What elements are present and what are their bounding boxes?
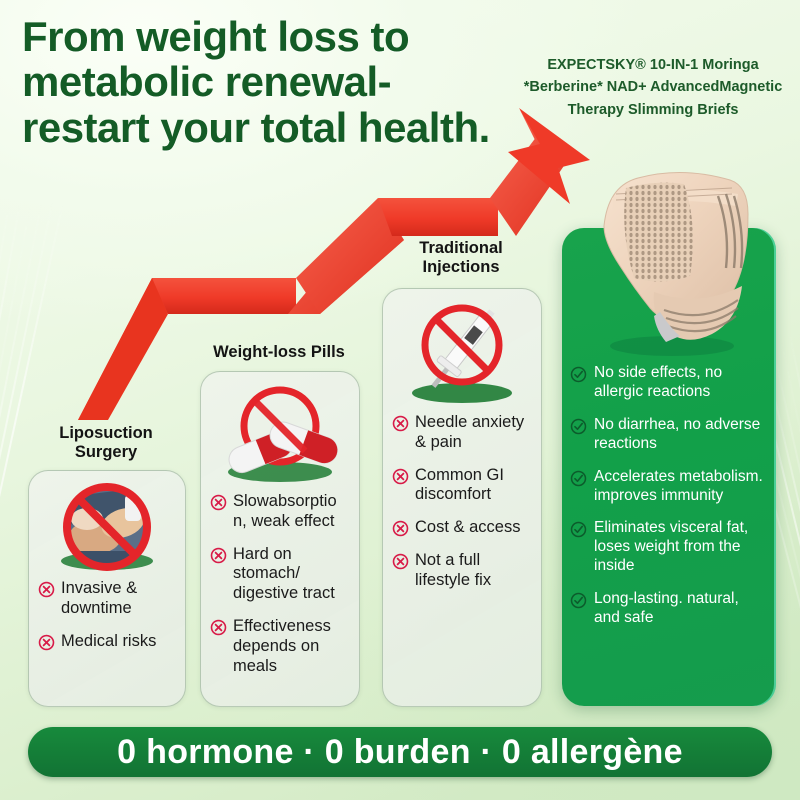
x-mark-icon [392, 520, 409, 537]
check-circle-icon [570, 366, 587, 383]
no-pills-icon [201, 380, 359, 488]
check-circle-icon [570, 521, 587, 538]
card-item-label: Needle anxiety & pain [415, 413, 532, 453]
check-circle-icon [570, 470, 587, 487]
card-item-label: Effectiveness depends on meals [233, 617, 350, 676]
bottom-banner: 0 hormone · 0 burden · 0 allergène [28, 727, 772, 777]
card-item: Hard on stomach/ digestive tract [210, 545, 350, 604]
benefit-item: Eliminates visceral fat, loses weight fr… [570, 519, 766, 576]
benefit-label: Long-lasting. natural, and safe [594, 590, 766, 628]
card-item: Cost & access [392, 518, 532, 538]
card-item-label: Cost & access [415, 518, 520, 538]
check-circle-icon [570, 418, 587, 435]
no-injection-icon [383, 297, 541, 409]
no-surgery-icon [29, 479, 185, 575]
benefit-label: Eliminates visceral fat, loses weight fr… [594, 519, 766, 576]
card-items-pills: Slowabsorptio n, weak effectHard on stom… [201, 488, 359, 686]
card-item: Medical risks [38, 632, 176, 652]
x-mark-icon [392, 415, 409, 432]
benefit-item: No diarrhea, no adverse reactions [570, 416, 766, 454]
card-label-injections: Traditional Injections [382, 239, 540, 278]
promo-poster: From weight loss to metabolic renewal-re… [0, 0, 800, 800]
benefit-label: No side effects, no allergic reactions [594, 364, 766, 402]
x-mark-icon [392, 468, 409, 485]
comparison-card-pills: Slowabsorptio n, weak effectHard on stom… [200, 371, 360, 707]
benefits-list: No side effects, no allergic reactionsNo… [562, 364, 776, 642]
product-photo [568, 160, 774, 360]
card-item: Common GI discomfort [392, 466, 532, 506]
card-item: Effectiveness depends on meals [210, 617, 350, 676]
comparison-card-injections: Needle anxiety & painCommon GI discomfor… [382, 288, 542, 707]
card-label-liposuction: Liposuction Surgery [28, 424, 184, 463]
card-items-liposuction: Invasive & downtimeMedical risks [29, 575, 185, 661]
x-mark-icon [210, 494, 227, 511]
card-items-injections: Needle anxiety & painCommon GI discomfor… [383, 409, 541, 601]
banner-text: 0 hormone · 0 burden · 0 allergène [117, 733, 683, 772]
card-item: Slowabsorptio n, weak effect [210, 492, 350, 532]
comparison-card-liposuction: Invasive & downtimeMedical risks [28, 470, 186, 707]
card-item-label: Slowabsorptio n, weak effect [233, 492, 350, 532]
x-mark-icon [210, 619, 227, 636]
benefit-label: No diarrhea, no adverse reactions [594, 416, 766, 454]
x-mark-icon [210, 547, 227, 564]
benefit-item: Long-lasting. natural, and safe [570, 590, 766, 628]
card-item-label: Invasive & downtime [61, 579, 176, 619]
x-mark-icon [392, 553, 409, 570]
x-mark-icon [38, 581, 55, 598]
card-item-label: Common GI discomfort [415, 466, 532, 506]
benefit-item: No side effects, no allergic reactions [570, 364, 766, 402]
card-item-label: Medical risks [61, 632, 156, 652]
check-circle-icon [570, 592, 587, 609]
card-item: Needle anxiety & pain [392, 413, 532, 453]
card-item-label: Hard on stomach/ digestive tract [233, 545, 350, 604]
card-item-label: Not a full lifestyle fix [415, 551, 532, 591]
card-item: Invasive & downtime [38, 579, 176, 619]
x-mark-icon [38, 634, 55, 651]
card-label-pills: Weight-loss Pills [200, 343, 358, 362]
benefit-item: Accelerates metabolism. improves immunit… [570, 468, 766, 506]
card-item: Not a full lifestyle fix [392, 551, 532, 591]
benefit-label: Accelerates metabolism. improves immunit… [594, 468, 766, 506]
